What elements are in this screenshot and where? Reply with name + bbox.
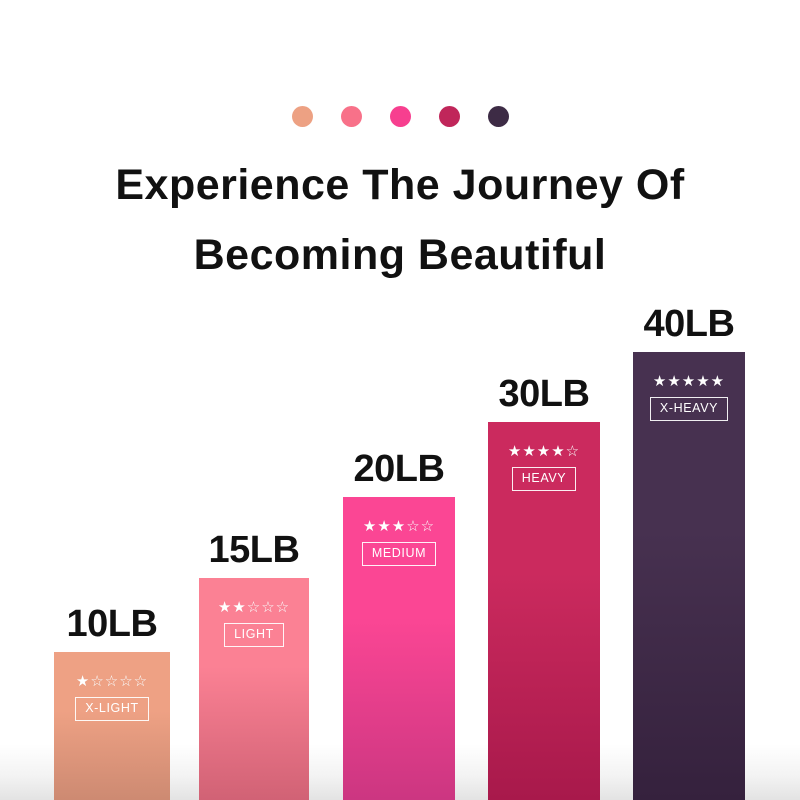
star-rating-icon: ★★★★☆ [508, 444, 580, 460]
bar-group-20lb: 20LB★★★☆☆MEDIUM [343, 497, 455, 800]
bar-group-40lb: 40LB★★★★★X-HEAVY [633, 352, 745, 800]
star-rating-icon: ★★★★★ [653, 374, 725, 390]
tier-label: X-HEAVY [650, 397, 728, 421]
product-infographic: Experience The Journey Of Becoming Beaut… [0, 0, 800, 800]
bar-badge: ★☆☆☆☆X-LIGHT [54, 674, 170, 721]
bar-value-label: 10LB [54, 603, 170, 646]
resistance-band-bar-chart: 10LB★☆☆☆☆X-LIGHT15LB★★☆☆☆LIGHT20LB★★★☆☆M… [0, 0, 800, 800]
star-rating-icon: ★★☆☆☆ [218, 600, 290, 616]
bar-15lb: ★★☆☆☆LIGHT [199, 578, 309, 800]
tier-label: HEAVY [512, 467, 576, 491]
tier-label: X-LIGHT [75, 697, 149, 721]
bar-value-label: 40LB [633, 303, 745, 346]
bar-value-label: 30LB [488, 373, 600, 416]
tier-label: MEDIUM [362, 542, 436, 566]
bar-badge: ★★★★☆HEAVY [488, 444, 600, 491]
star-rating-icon: ★★★☆☆ [363, 519, 435, 535]
star-rating-icon: ★☆☆☆☆ [76, 674, 148, 690]
bar-group-15lb: 15LB★★☆☆☆LIGHT [199, 578, 309, 800]
bar-40lb: ★★★★★X-HEAVY [633, 352, 745, 800]
bar-group-10lb: 10LB★☆☆☆☆X-LIGHT [54, 652, 170, 800]
bar-value-label: 20LB [343, 448, 455, 491]
bar-10lb: ★☆☆☆☆X-LIGHT [54, 652, 170, 800]
bar-value-label: 15LB [199, 529, 309, 572]
bar-30lb: ★★★★☆HEAVY [488, 422, 600, 800]
bar-badge: ★★★☆☆MEDIUM [343, 519, 455, 566]
tier-label: LIGHT [224, 623, 284, 647]
bar-group-30lb: 30LB★★★★☆HEAVY [488, 422, 600, 800]
bar-badge: ★★☆☆☆LIGHT [199, 600, 309, 647]
bar-badge: ★★★★★X-HEAVY [633, 374, 745, 421]
bar-20lb: ★★★☆☆MEDIUM [343, 497, 455, 800]
